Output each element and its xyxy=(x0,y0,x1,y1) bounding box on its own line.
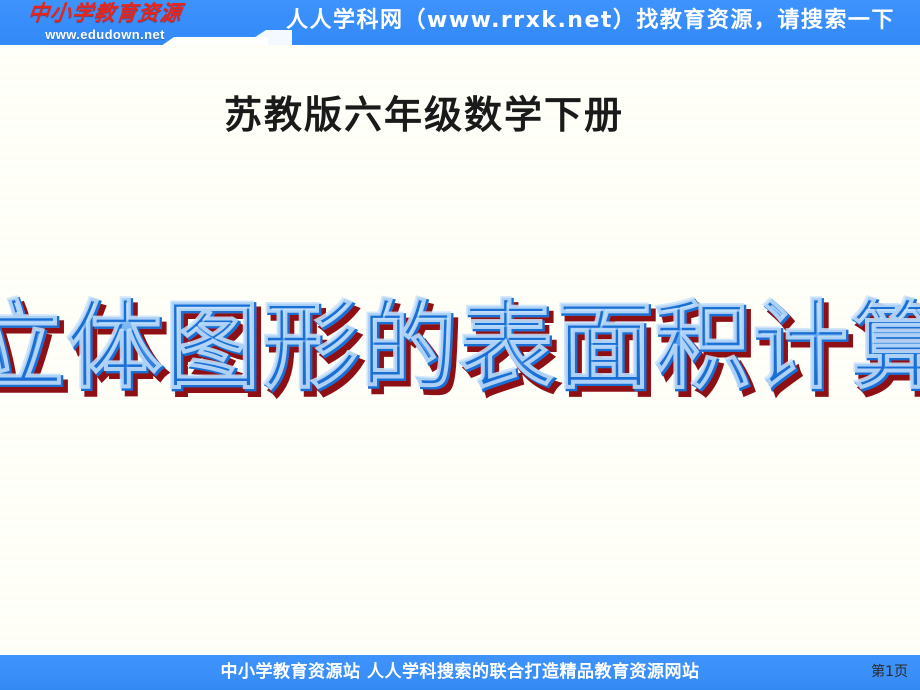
footer-banner: 中小学教育资源站 人人学科搜索的联合打造精品教育资源网站 第1页 xyxy=(0,655,920,690)
site-logo[interactable]: 中小学教育资源 www.edudown.net xyxy=(25,1,185,45)
footer-text: 中小学教育资源站 人人学科搜索的联合打造精品教育资源网站 xyxy=(0,655,920,690)
slide-subtitle: 苏教版六年级数学下册 xyxy=(224,84,624,139)
header-promo-text: 人人学科网（www.rrxk.net）找教育资源，请搜索一下 xyxy=(286,4,895,38)
slide-title-container: 立体图形的表面积计算 立体图形的表面积计算 立体图形的表面积计算 xyxy=(0,278,920,418)
presentation-slide: 中小学教育资源 www.edudown.net 人人学科网（www.rrxk.n… xyxy=(0,0,920,690)
logo-url-text: www.edudown.net xyxy=(25,27,185,42)
wordart-title: 立体图形的表面积计算 立体图形的表面积计算 立体图形的表面积计算 xyxy=(0,298,920,399)
page-number-label: 第1页 xyxy=(871,655,908,690)
logo-brand-text: 中小学教育资源 xyxy=(24,1,187,26)
wordart-title-fill: 立体图形的表面积计算 xyxy=(0,292,920,404)
header-banner: 中小学教育资源 www.edudown.net 人人学科网（www.rrxk.n… xyxy=(0,0,920,45)
